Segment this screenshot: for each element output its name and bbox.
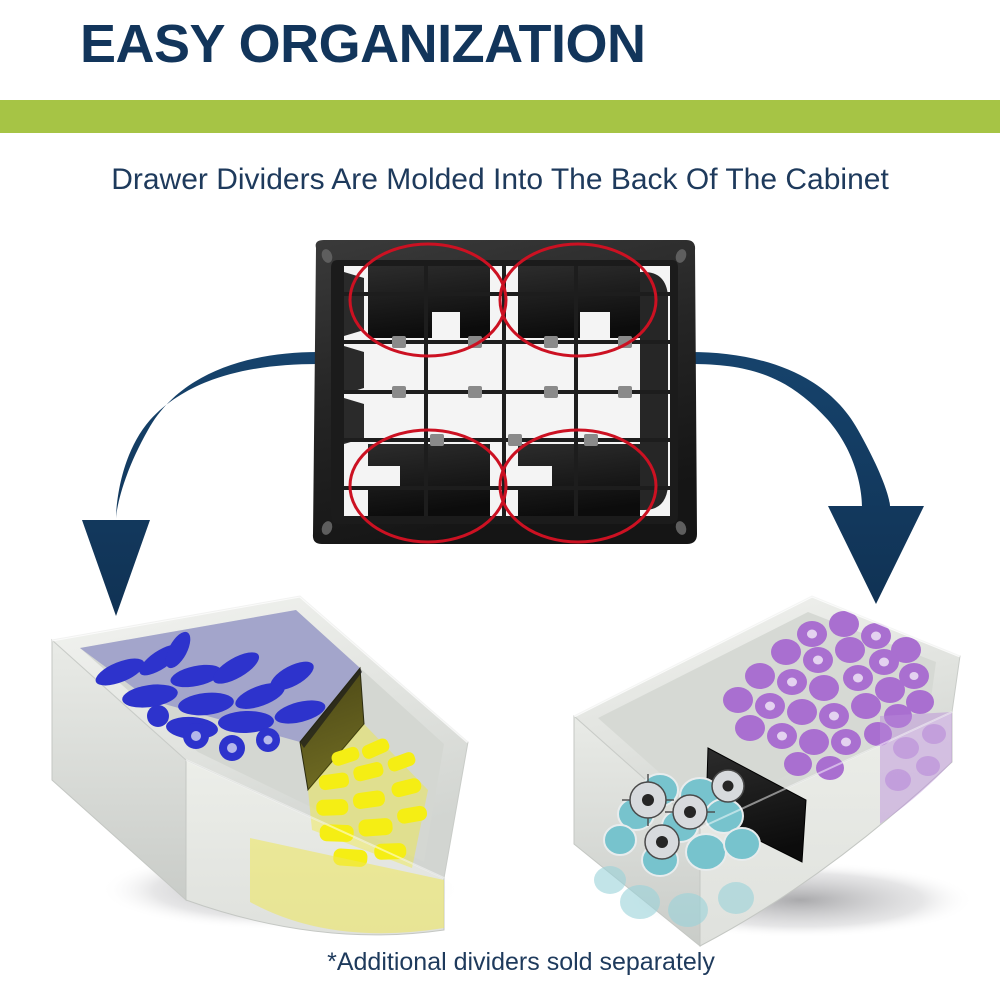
- molded-divider-block: [518, 266, 640, 338]
- bin-left: [52, 596, 468, 935]
- product-infographic: EASY ORGANIZATION Drawer Dividers Are Mo…: [0, 0, 1000, 1000]
- molded-divider-block: [368, 266, 490, 338]
- arrow-right: [690, 352, 924, 604]
- infographic-artwork: [0, 0, 1000, 1000]
- arrow-left: [82, 352, 318, 616]
- cabinet-image: [313, 240, 697, 544]
- bin-right: [574, 596, 975, 946]
